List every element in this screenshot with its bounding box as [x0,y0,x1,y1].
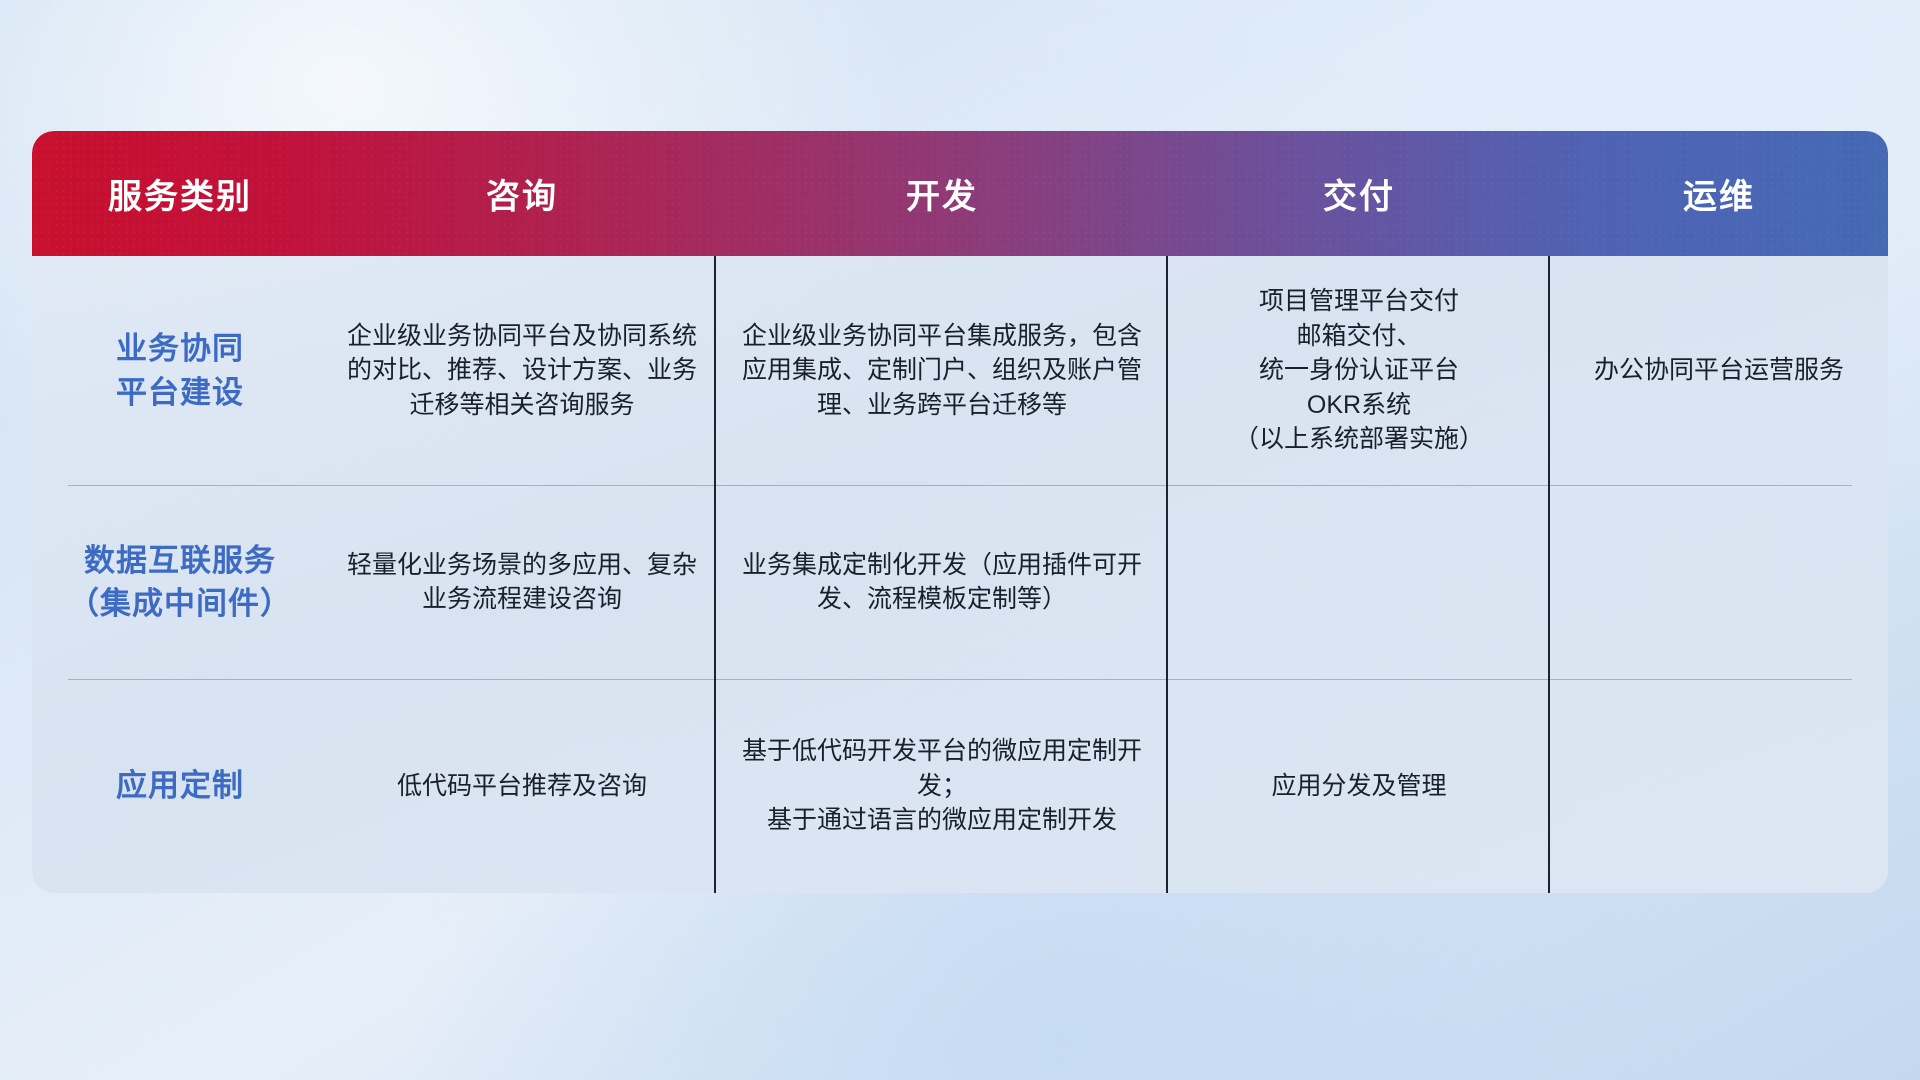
table-row: 业务协同平台建设 企业级业务协同平台及协同系统的对比、推荐、设计方案、业务迁移等… [32,256,1888,485]
row-label-cell: 应用定制 [32,679,328,893]
cell-operations: 办公协同平台运营服务 [1550,256,1888,485]
cell-development: 业务集成定制化开发（应用插件可开发、流程模板定制等） [716,485,1168,679]
table-header-row: 服务类别 咨询 开发 交付 运维 [32,131,1888,256]
cell-text: 办公协同平台运营服务 [1594,353,1844,388]
service-matrix-table: 服务类别 咨询 开发 交付 运维 业务协同平台建设 企业级业务协同平台及协同系统… [32,131,1888,893]
cell-development: 基于低代码开发平台的微应用定制开发；基于通过语言的微应用定制开发 [716,679,1168,893]
cell-text: 项目管理平台交付邮箱交付、统一身份认证平台OKR系统（以上系统部署实施） [1234,284,1484,457]
cell-consulting: 低代码平台推荐及咨询 [328,679,716,893]
header-consulting-label: 咨询 [486,169,558,218]
header-operations: 运维 [1550,131,1888,256]
cell-text: 应用分发及管理 [1271,769,1446,804]
row-label-cell: 业务协同平台建设 [32,256,328,485]
cell-text: 基于低代码开发平台的微应用定制开发；基于通过语言的微应用定制开发 [732,734,1152,838]
row-label-cell: 数据互联服务（集成中间件） [32,485,328,679]
cell-text: 轻量化业务场景的多应用、复杂业务流程建设咨询 [344,548,700,617]
cell-consulting: 企业级业务协同平台及协同系统的对比、推荐、设计方案、业务迁移等相关咨询服务 [328,256,716,485]
cell-development: 企业级业务协同平台集成服务，包含应用集成、定制门户、组织及账户管理、业务跨平台迁… [716,256,1168,485]
header-development-label: 开发 [906,169,978,218]
cell-consulting: 轻量化业务场景的多应用、复杂业务流程建设咨询 [328,485,716,679]
header-service-category: 服务类别 [32,131,328,256]
cell-text: 企业级业务协同平台集成服务，包含应用集成、定制门户、组织及账户管理、业务跨平台迁… [732,319,1152,423]
table-body: 业务协同平台建设 企业级业务协同平台及协同系统的对比、推荐、设计方案、业务迁移等… [32,256,1888,893]
cell-text: 业务集成定制化开发（应用插件可开发、流程模板定制等） [732,548,1152,617]
slide-canvas: 服务类别 咨询 开发 交付 运维 业务协同平台建设 企业级业务协同平台及协同系统… [0,0,1920,1080]
table-row: 数据互联服务（集成中间件） 轻量化业务场景的多应用、复杂业务流程建设咨询 业务集… [32,485,1888,679]
table-row: 应用定制 低代码平台推荐及咨询 基于低代码开发平台的微应用定制开发；基于通过语言… [32,679,1888,893]
header-development: 开发 [716,131,1168,256]
cell-text: 企业级业务协同平台及协同系统的对比、推荐、设计方案、业务迁移等相关咨询服务 [344,319,700,423]
row-label: 应用定制 [116,764,244,807]
header-consulting: 咨询 [328,131,716,256]
header-service-category-label: 服务类别 [108,169,252,218]
cell-operations [1550,679,1888,893]
row-label: 数据互联服务（集成中间件） [68,539,292,626]
row-label: 业务协同平台建设 [116,327,244,414]
cell-delivery: 项目管理平台交付邮箱交付、统一身份认证平台OKR系统（以上系统部署实施） [1168,256,1550,485]
table-card: 服务类别 咨询 开发 交付 运维 业务协同平台建设 企业级业务协同平台及协同系统… [32,131,1888,893]
cell-text: 低代码平台推荐及咨询 [397,769,647,804]
header-delivery-label: 交付 [1323,169,1395,218]
cell-delivery: 应用分发及管理 [1168,679,1550,893]
header-delivery: 交付 [1168,131,1550,256]
cell-delivery [1168,485,1550,679]
header-operations-label: 运维 [1683,169,1755,218]
cell-operations [1550,485,1888,679]
